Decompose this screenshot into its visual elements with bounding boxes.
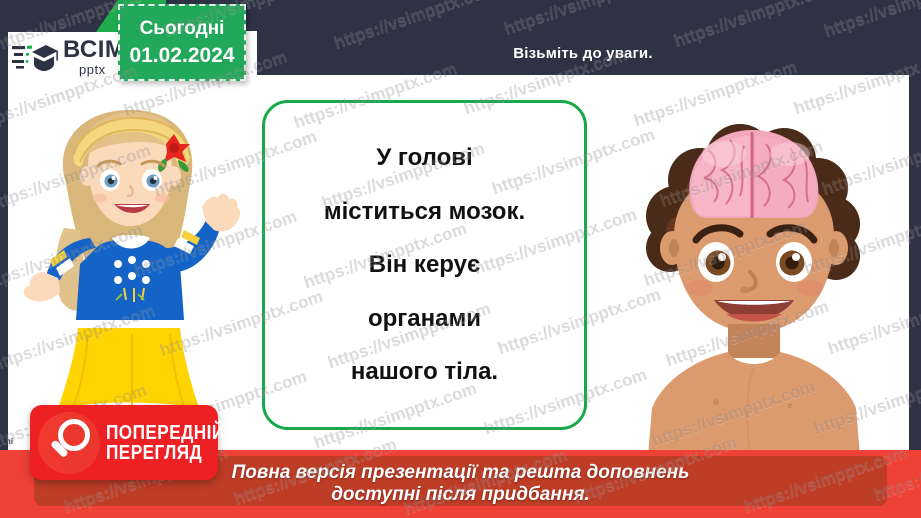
preview-badge[interactable]: ПОПЕРЕДНІЙ ПЕРЕГЛЯД — [30, 405, 218, 480]
boy-with-brain-illustration — [604, 96, 904, 456]
logo-name: ВСІМ — [63, 38, 125, 62]
presentation-slide: ВСІМ pptx Сьогодні 01.02.2024 Візьміть д… — [0, 0, 921, 518]
text-line-1: У голові — [376, 145, 472, 170]
main-text-box: У голові міститься мозок. Він керує орга… — [262, 100, 587, 430]
today-label: Сьогодні — [140, 18, 225, 40]
preview-badge-line-1: ПОПЕРЕДНІЙ — [106, 423, 225, 443]
text-line-2: міститься мозок. — [324, 199, 525, 224]
banner-line-1: Повна версія презентації та решта доповн… — [232, 462, 690, 484]
today-date: 01.02.2024 — [129, 44, 234, 68]
banner-line-2: доступні після придбання. — [331, 484, 590, 506]
preview-badge-line-2: ПЕРЕГЛЯД — [106, 443, 225, 463]
text-line-3: Він керує — [369, 252, 480, 277]
graduation-cap-icon — [12, 40, 58, 74]
text-line-4: органами — [368, 306, 481, 331]
magnifier-icon — [38, 412, 100, 474]
slide-title: Візьміть до уваги. — [513, 45, 652, 62]
today-date-badge: Сьогодні 01.02.2024 — [118, 4, 246, 81]
slide-header-bar: Візьміть до уваги. — [257, 31, 909, 75]
slide-note-left: пі — [6, 437, 13, 446]
girl-in-ukrainian-dress-illustration — [14, 88, 244, 433]
text-line-5: нашого тіла. — [351, 359, 498, 384]
